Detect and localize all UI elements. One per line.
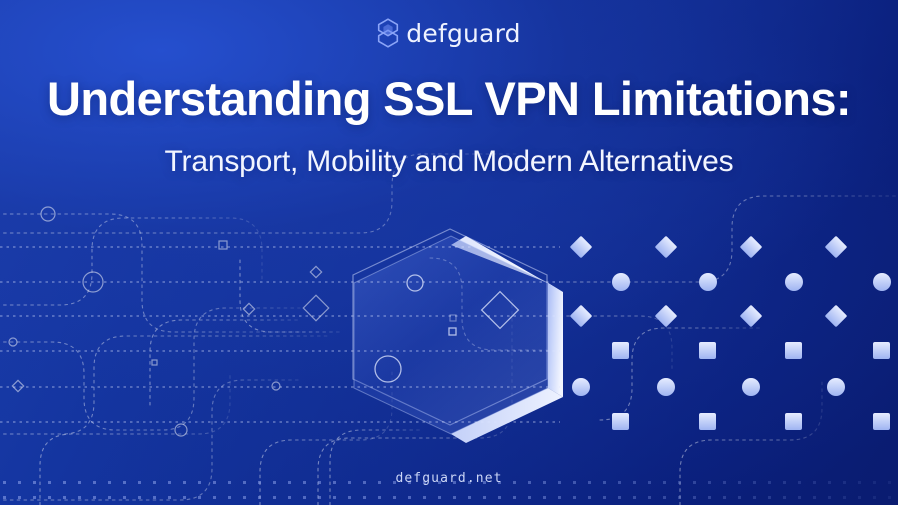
page-title: Understanding SSL VPN Limitations: bbox=[0, 74, 898, 124]
brand-name: defguard bbox=[406, 21, 520, 46]
brand-logo: defguard bbox=[0, 18, 898, 48]
defguard-hexagon-logo-icon bbox=[377, 18, 399, 48]
footer: defguard.net bbox=[0, 469, 898, 487]
footer-url: defguard.net bbox=[395, 471, 502, 486]
banner-canvas: defguard Understanding SSL VPN Limitatio… bbox=[0, 0, 898, 505]
heading-block: Understanding SSL VPN Limitations: Trans… bbox=[0, 74, 898, 178]
page-subtitle: Transport, Mobility and Modern Alternati… bbox=[0, 145, 898, 178]
